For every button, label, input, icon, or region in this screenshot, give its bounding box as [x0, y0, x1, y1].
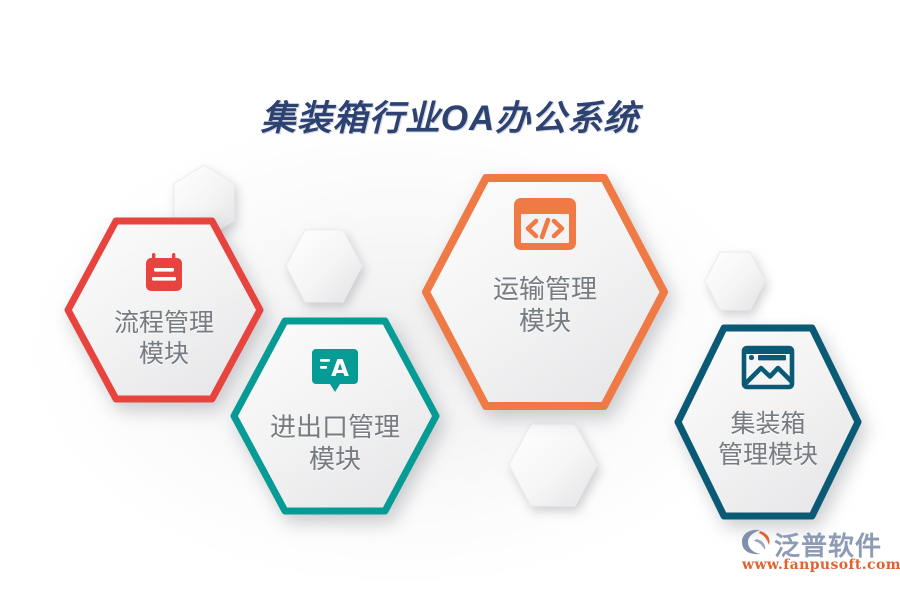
logo-website-url: www.fanpusoft.com	[742, 557, 900, 573]
brand-logo[interactable]: 泛普软件 www.fanpusoft.com	[736, 524, 886, 584]
module-hexagon-import-export[interactable]: A 进出口管理 模块	[224, 312, 446, 520]
module-hexagon-container[interactable]: 集装箱 管理模块	[668, 318, 868, 526]
module-hexagon-transport[interactable]: 运输管理 模块	[414, 168, 676, 416]
infographic-canvas: 集装箱行业OA办公系统	[0, 0, 900, 600]
decorative-hexagon-bottom-center	[505, 422, 601, 508]
page-title: 集装箱行业OA办公系统	[0, 90, 900, 141]
decorative-hexagon-mid-left	[283, 228, 365, 304]
decorative-hexagon-right	[702, 250, 768, 312]
